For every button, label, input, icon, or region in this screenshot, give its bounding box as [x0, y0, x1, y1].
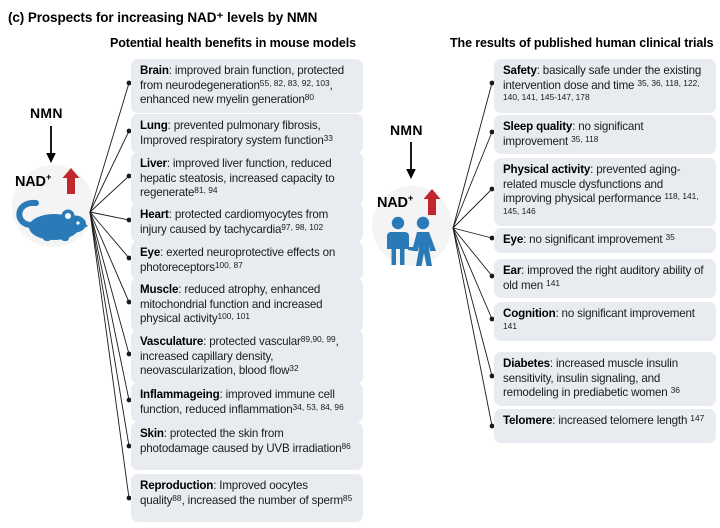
connector-line	[453, 132, 492, 228]
human-nad-text: NAD	[377, 195, 408, 211]
mouse-benefit-term: Muscle	[140, 283, 178, 296]
mouse-benefit-references-2: 85	[343, 493, 352, 503]
human-trial-term: Telomere	[503, 414, 552, 427]
connector-line	[453, 228, 492, 276]
mouse-nad-superscript: +	[46, 172, 51, 183]
mouse-benefit-description: : prevented pulmonary fibrosis, Improved…	[140, 119, 324, 147]
mouse-benefit-term: Skin	[140, 427, 164, 440]
human-trial-description: : no significant improvement	[523, 233, 665, 246]
human-trial-item: Physical activity: prevented aging-relat…	[494, 158, 716, 226]
human-trial-references: 35, 118	[571, 134, 598, 144]
human-trial-item: Cognition: no significant improvement 14…	[494, 302, 716, 341]
connector-line	[453, 228, 492, 426]
human-trial-term: Ear	[503, 264, 521, 277]
up-arrow-icon-human	[423, 189, 441, 216]
human-nad-label: NAD+	[377, 193, 413, 211]
mouse-benefit-item: Lung: prevented pulmonary fibrosis, Impr…	[131, 114, 363, 153]
human-trial-description: : no significant improvement	[555, 307, 694, 320]
right-column-title: The results of published human clinical …	[450, 36, 714, 50]
connector-line	[90, 212, 129, 400]
human-trial-item: Safety: basically safe under the existin…	[494, 59, 716, 113]
human-trial-references: 36	[671, 385, 680, 395]
mouse-benefit-references: 89,90, 99	[301, 334, 336, 344]
mouse-benefit-term: Lung	[140, 119, 168, 132]
connector-line	[453, 189, 492, 228]
mouse-nad-text: NAD	[15, 174, 46, 190]
human-nmn-label: NMN	[390, 122, 423, 138]
human-trial-item: Ear: improved the right auditory ability…	[494, 259, 716, 298]
mouse-benefit-item: Vasculature: protected vascular89,90, 99…	[131, 330, 363, 384]
mouse-benefit-item: Skin: protected the skin from photodamag…	[131, 422, 363, 470]
connector-line	[90, 131, 129, 212]
mouse-benefit-references: 86	[342, 441, 351, 451]
mouse-benefit-term: Heart	[140, 208, 169, 221]
human-trial-references: 141	[503, 321, 517, 331]
mouse-benefit-references: 81, 94	[194, 185, 217, 195]
human-nad-superscript: +	[408, 193, 413, 204]
mouse-benefit-references: 88	[172, 493, 181, 503]
people-icon	[381, 216, 443, 266]
human-trial-term: Cognition	[503, 307, 555, 320]
connector-line	[453, 228, 492, 376]
connector-line	[90, 212, 129, 354]
connector-line	[453, 228, 492, 319]
mouse-benefit-description: : improved liver function, reduced hepat…	[140, 157, 335, 199]
mouse-benefit-description: : protected the skin from photodamage ca…	[140, 427, 342, 455]
mouse-benefit-term: Brain	[140, 64, 169, 77]
connector-line	[453, 83, 492, 228]
connector-line	[90, 83, 129, 212]
mouse-benefit-references: 34, 53, 84, 96	[293, 402, 344, 412]
human-trial-item: Eye: no significant improvement 35	[494, 228, 716, 253]
mouse-benefit-item: Eye: exerted neuroprotective effects on …	[131, 241, 363, 280]
mouse-icon	[14, 195, 88, 243]
mouse-nmn-label: NMN	[30, 105, 63, 121]
mouse-benefit-references: 33	[324, 133, 333, 143]
human-trial-term: Eye	[503, 233, 523, 246]
human-trial-description: : improved the right auditory ability of…	[503, 264, 703, 292]
mouse-benefit-item: Heart: protected cardiomyocytes from inj…	[131, 203, 363, 242]
connector-line	[90, 176, 129, 212]
left-column-title: Potential health benefits in mouse model…	[110, 36, 356, 50]
mouse-benefit-references-2: 32	[289, 363, 298, 373]
figure-label-text: (c) Prospects for increasing NAD⁺ levels…	[8, 10, 317, 25]
mouse-benefit-term: Eye	[140, 246, 160, 259]
mouse-benefit-references: 100, 87	[215, 260, 243, 270]
human-trial-references: 141	[546, 278, 560, 288]
up-arrow-icon-mouse	[62, 168, 80, 195]
mouse-benefit-term: Reproduction	[140, 479, 213, 492]
human-trial-term: Sleep quality	[503, 120, 572, 133]
human-trial-item: Diabetes: increased muscle insulin sensi…	[494, 352, 716, 406]
human-trial-term: Diabetes	[503, 357, 550, 370]
mouse-benefit-item: Brain: improved brain function, protecte…	[131, 59, 363, 113]
connector-line	[90, 212, 129, 302]
mouse-nad-label: NAD+	[15, 172, 51, 190]
human-trial-description: : increased telomere length	[552, 414, 690, 427]
figure-panel-c: (c) Prospects for increasing NAD⁺ levels…	[0, 0, 720, 528]
human-trial-term: Safety	[503, 64, 537, 77]
mouse-benefit-term: Liver	[140, 157, 167, 170]
down-arrow-icon-human	[404, 142, 418, 180]
mouse-benefit-references: 55, 82, 83, 92, 103	[260, 78, 330, 88]
human-trial-item: Sleep quality: no significant improvemen…	[494, 115, 716, 154]
mouse-benefit-item: Liver: improved liver function, reduced …	[131, 152, 363, 206]
human-trial-references: 35	[665, 232, 674, 242]
mouse-benefit-references: 100, 101	[217, 311, 250, 321]
human-trial-references: 147	[690, 413, 704, 423]
connector-line	[90, 212, 129, 220]
mouse-benefit-item: Muscle: reduced atrophy, enhanced mitoch…	[131, 278, 363, 332]
connector-line	[453, 228, 492, 238]
connector-line	[90, 212, 129, 258]
mouse-benefit-item: Reproduction: Improved oocytes quality88…	[131, 474, 363, 522]
human-trial-item: Telomere: increased telomere length 147	[494, 409, 716, 443]
mouse-benefit-references: 97, 98, 102	[281, 222, 323, 232]
connector-line	[90, 212, 129, 446]
human-trial-term: Physical activity	[503, 163, 590, 176]
mouse-benefit-description: : protected vascular	[203, 335, 301, 348]
mouse-benefit-term: Inflammageing	[140, 388, 219, 401]
mouse-benefit-references-2: 80	[305, 92, 314, 102]
mouse-benefit-item: Inflammageing: improved immune cell func…	[131, 383, 363, 422]
mouse-benefit-description-2: , increased the number of sperm	[182, 494, 343, 507]
mouse-benefit-term: Vasculature	[140, 335, 203, 348]
page-title: (c) Prospects for increasing NAD⁺ levels…	[8, 10, 317, 26]
down-arrow-icon	[44, 126, 58, 164]
connector-line	[90, 212, 129, 498]
